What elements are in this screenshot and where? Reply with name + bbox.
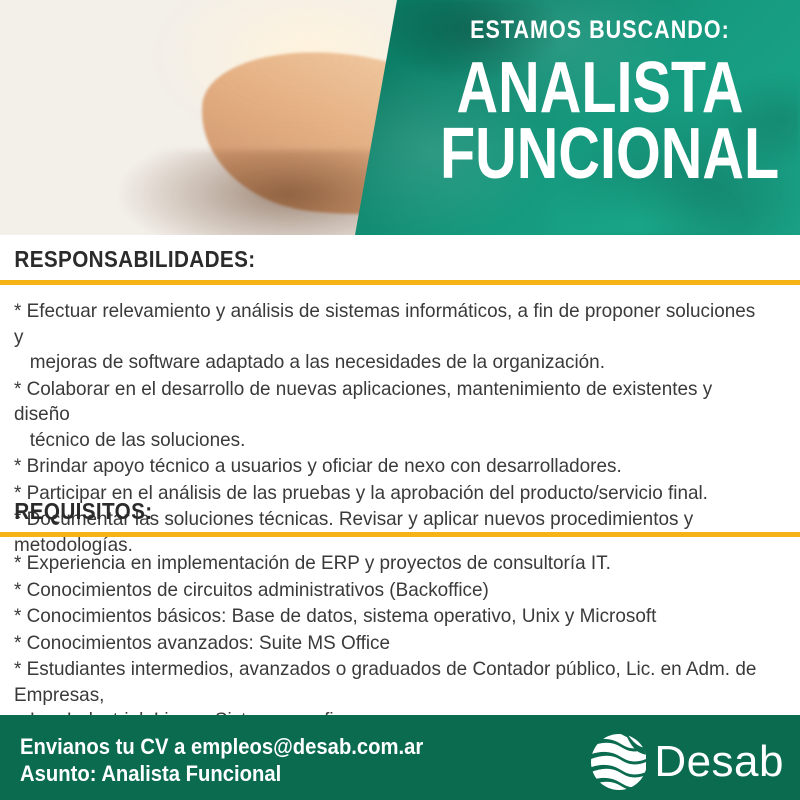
job-title-line1: ANALISTA (440, 55, 760, 121)
list-item: * Brindar apoyo técnico a usuarios y ofi… (14, 454, 763, 480)
list-item: * Conocimientos básicos: Base de datos, … (14, 604, 763, 630)
list-item: * Experiencia en implementación de ERP y… (14, 551, 763, 577)
footer-subject-line: Asunto: Analista Funcional (20, 760, 423, 787)
kicker-label: ESTAMOS BUSCANDO: (428, 16, 772, 45)
list-item: * Efectuar relevamiento y análisis de si… (14, 299, 763, 376)
footer-email-line[interactable]: Envianos tu CV a empleos@desab.com.ar (20, 733, 423, 760)
job-posting-poster: ESTAMOS BUSCANDO: ANALISTA FUNCIONAL RES… (0, 0, 800, 800)
footer-text-block: Envianos tu CV a empleos@desab.com.ar As… (20, 733, 423, 787)
section-heading-requisitos: REQUISITOS: (0, 498, 720, 525)
section-requisitos: REQUISITOS: * Experiencia en implementac… (0, 498, 800, 735)
list-item: * Conocimientos de circuitos administrat… (14, 578, 763, 604)
footer-contact-bar: Envianos tu CV a empleos@desab.com.ar As… (0, 715, 800, 800)
job-title-line2: FUNCIONAL (440, 121, 760, 187)
desab-circle-logo-icon (588, 733, 650, 791)
list-item: * Conocimientos avanzados: Suite MS Offi… (14, 631, 763, 657)
brand-lockup: Desab (588, 733, 784, 791)
header-banner: ESTAMOS BUSCANDO: ANALISTA FUNCIONAL (0, 0, 800, 235)
header-text-block: ESTAMOS BUSCANDO: ANALISTA FUNCIONAL (400, 0, 800, 235)
section-heading-responsabilidades: RESPONSABILIDADES: (0, 246, 720, 273)
brand-wordmark: Desab (654, 738, 784, 786)
list-item: * Colaborar en el desarrollo de nuevas a… (14, 377, 763, 454)
bullet-list-requisitos: * Experiencia en implementación de ERP y… (0, 537, 800, 734)
